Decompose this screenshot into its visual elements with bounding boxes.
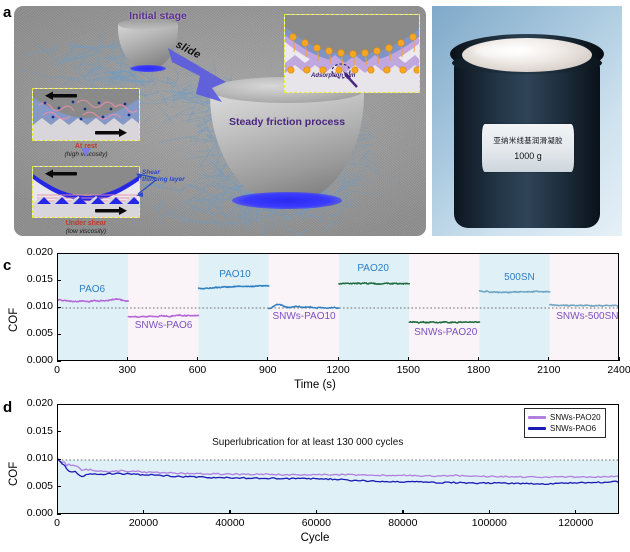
inset-under-shear [32, 166, 140, 218]
initial-stage-label: Initial stage [108, 10, 208, 22]
x-tickmark [575, 510, 576, 514]
y-tickmark [57, 486, 61, 487]
y-tick-label: 0.005 [5, 480, 53, 492]
legend-label: SNWs-PAO6 [550, 424, 596, 433]
panel-c-chart: COF Time (s) PAO6SNWs-PAO6PAO10SNWs-PAO1… [0, 248, 630, 396]
x-tickmark [408, 357, 409, 361]
curve-annotation-3: SNWs-PAO10 [272, 312, 335, 322]
legend-label: SNWs-PAO20 [550, 413, 601, 422]
y-tick-label: 0.005 [5, 327, 53, 339]
x-tickmark [229, 510, 230, 514]
curve-annotation-0: Superlubrication for at least 130 000 cy… [212, 438, 403, 448]
legend-swatch-icon [528, 427, 546, 430]
x-tick-label: 1800 [449, 364, 509, 376]
transition-arrow-icon [81, 148, 91, 157]
x-tick-label: 80000 [373, 517, 433, 529]
x-tickmark [338, 357, 339, 361]
x-tickmark [127, 357, 128, 361]
y-tickmark [57, 253, 61, 254]
x-tick-label: 300 [97, 364, 157, 376]
curve-annotation-0: PAO6 [79, 285, 105, 295]
x-tickmark [57, 510, 58, 514]
x-tickmark [316, 510, 317, 514]
panel-d-chart: COF Cycle SNWs-PAO20SNWs-PAO6 Superlubri… [0, 396, 630, 552]
y-tick-label: 0.010 [5, 300, 53, 312]
x-tick-label: 2100 [519, 364, 579, 376]
curve-annotation-1: SNWs-PAO6 [135, 321, 193, 331]
panel-d-legend: SNWs-PAO20SNWs-PAO6 [524, 408, 606, 438]
curve-annotation-6: 500SN [504, 273, 535, 283]
panel-letter-a: a [3, 5, 11, 20]
legend-item-0[interactable]: SNWs-PAO20 [528, 412, 601, 423]
y-tickmark [57, 459, 61, 460]
y-tick-label: 0.020 [5, 246, 53, 258]
panel-c-plot-area [57, 253, 619, 361]
under-shear-subcaption: (low viscosity) [32, 228, 140, 235]
y-tick-label: 0.015 [5, 425, 53, 437]
x-tick-label: 20000 [113, 517, 173, 529]
x-tick-label: 60000 [286, 517, 346, 529]
x-tick-label: 1200 [308, 364, 368, 376]
x-tickmark [402, 510, 403, 514]
y-tickmark [57, 307, 61, 308]
x-tick-label: 600 [168, 364, 228, 376]
curve-annotation-7: SNWs-500SN [556, 312, 618, 322]
shear-thinning-layer-note: Shear thinning layer [142, 169, 186, 184]
panel-d-x-axis-title: Cycle [0, 532, 630, 544]
gel-surface [462, 38, 592, 72]
inset-at-rest [32, 88, 140, 141]
panel-b-photo: 亚纳米线基润滑凝胶 1000 g [432, 6, 622, 236]
y-tickmark [57, 334, 61, 335]
panel-c-x-axis-title: Time (s) [0, 379, 630, 391]
panel-a-schematic: slide Initial stage Steady friction proc… [14, 6, 426, 236]
x-tickmark [57, 357, 58, 361]
steady-contact-zone [232, 192, 342, 209]
x-tickmark [143, 510, 144, 514]
inset-adsorption-film: Adsorption film [284, 14, 420, 93]
x-tickmark [197, 357, 198, 361]
jar-label-chinese-text: 亚纳米线基润滑凝胶 [493, 135, 562, 146]
curve-annotation-5: SNWs-PAO20 [414, 328, 477, 338]
x-tick-label: 2400 [589, 364, 630, 376]
x-tickmark [489, 510, 490, 514]
under-shear-caption: Under shear [32, 220, 140, 227]
x-tickmark [619, 357, 620, 361]
x-tickmark [478, 357, 479, 361]
lubricant-jar: 亚纳米线基润滑凝胶 1000 g [450, 20, 604, 228]
steady-friction-label: Steady friction process [222, 116, 352, 128]
y-tickmark [57, 431, 61, 432]
x-tickmark [548, 357, 549, 361]
x-tick-label: 120000 [546, 517, 606, 529]
x-tick-label: 900 [238, 364, 298, 376]
adsorption-film-note: Adsorption film [311, 73, 355, 79]
y-tick-label: 0.020 [5, 397, 53, 409]
legend-swatch-icon [528, 416, 546, 419]
x-tick-label: 0 [27, 517, 87, 529]
x-tick-label: 0 [27, 364, 87, 376]
y-tick-label: 0.015 [5, 273, 53, 285]
x-tick-label: 40000 [200, 517, 260, 529]
figure-root: a slide Initial stage Steady friction pr… [0, 0, 630, 552]
y-tick-label: 0.010 [5, 452, 53, 464]
initial-contact-zone [130, 65, 166, 72]
x-tick-label: 1500 [378, 364, 438, 376]
curve-annotation-2: PAO10 [219, 270, 251, 280]
x-tick-label: 100000 [459, 517, 519, 529]
x-tickmark [267, 357, 268, 361]
jar-label-weight-text: 1000 g [514, 151, 542, 161]
curve-annotation-4: PAO20 [357, 264, 389, 274]
legend-item-1[interactable]: SNWs-PAO6 [528, 423, 601, 434]
y-tickmark [57, 404, 61, 405]
y-tickmark [57, 280, 61, 281]
jar-product-label: 亚纳米线基润滑凝胶 1000 g [482, 124, 574, 172]
